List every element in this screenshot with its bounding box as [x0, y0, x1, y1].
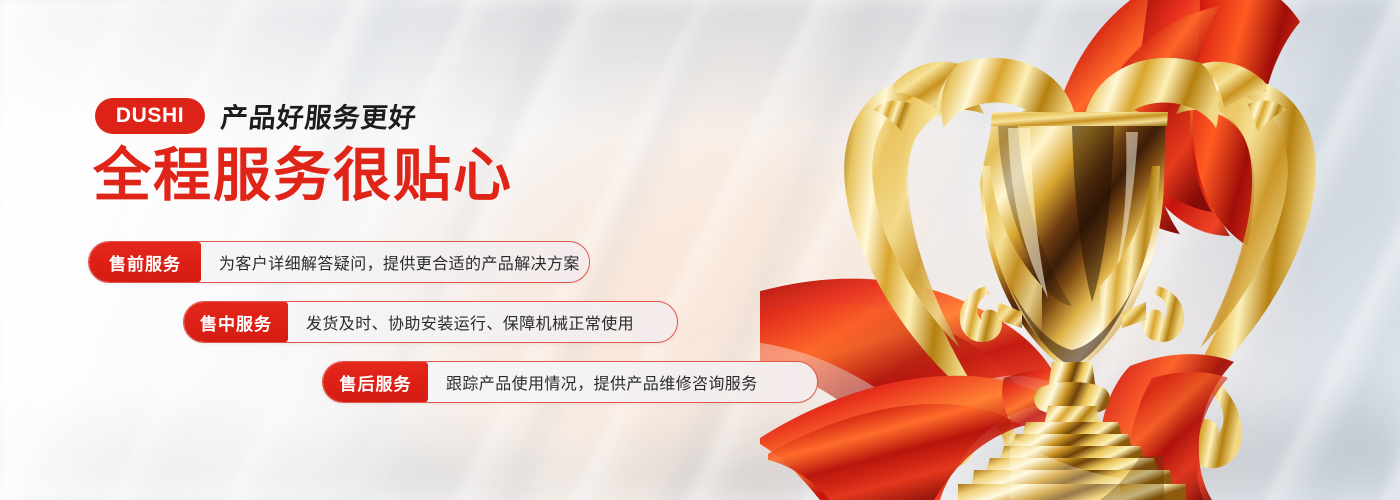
page-title: 全程服务很贴心: [93, 146, 513, 207]
service-label: 售中服务: [184, 302, 288, 342]
service-description: 为客户详细解答疑问，提供更合适的产品解决方案: [201, 242, 590, 282]
service-label: 售前服务: [89, 242, 201, 282]
service-label: 售后服务: [323, 362, 428, 402]
title-row: DUSHI 产品好服务更好: [95, 96, 417, 135]
service-description: 发货及时、协助安装运行、保障机械正常使用: [288, 302, 654, 342]
service-promo-banner: DUSHI 产品好服务更好 全程服务很贴心 售前服务 为客户详细解答疑问，提供更…: [0, 0, 1400, 500]
banner-subtitle: 产品好服务更好: [219, 96, 418, 135]
brand-badge: DUSHI: [95, 98, 205, 134]
service-row-after-sales: 售后服务 跟踪产品使用情况，提供产品维修咨询服务: [322, 361, 818, 403]
service-description: 跟踪产品使用情况，提供产品维修咨询服务: [428, 362, 778, 402]
service-row-pre-sales: 售前服务 为客户详细解答疑问，提供更合适的产品解决方案: [88, 241, 590, 283]
service-row-during-sales: 售中服务 发货及时、协助安装运行、保障机械正常使用: [183, 301, 678, 343]
banner-content: DUSHI 产品好服务更好 全程服务很贴心 售前服务 为客户详细解答疑问，提供更…: [0, 0, 900, 500]
